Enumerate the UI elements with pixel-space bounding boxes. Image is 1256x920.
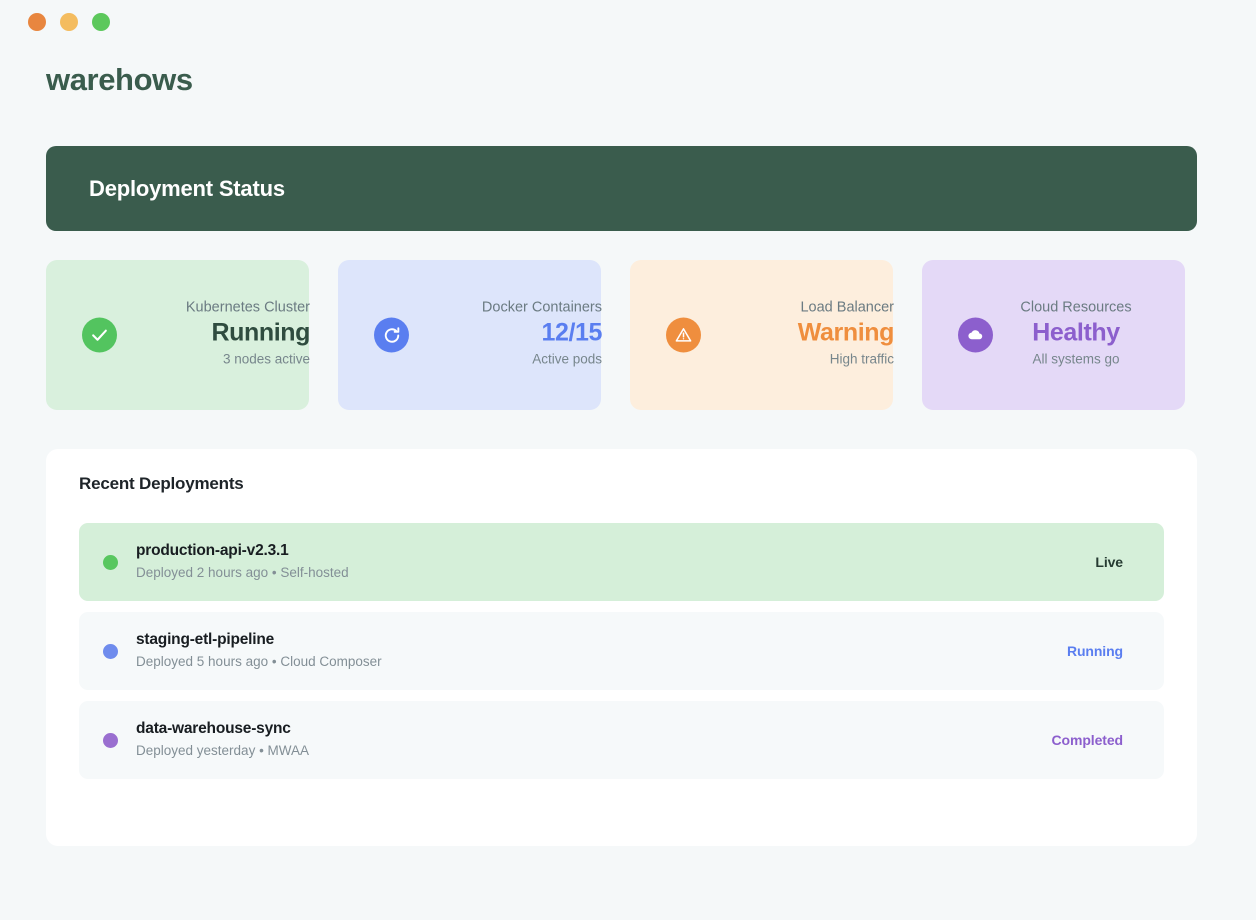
status-card-label: Docker Containers <box>412 298 602 319</box>
deployment-list: production-api-v2.3.1 Deployed 2 hours a… <box>79 523 1164 790</box>
status-card-load-balancer[interactable]: Load Balancer Warning High traffic <box>630 260 893 410</box>
deployment-row-info: staging-etl-pipeline Deployed 5 hours ag… <box>136 629 1067 673</box>
status-card-sub: 3 nodes active <box>120 347 310 373</box>
status-card-value: Running <box>120 319 310 347</box>
status-card-value: 12/15 <box>412 319 602 347</box>
maximize-window-button[interactable] <box>92 13 110 31</box>
warning-triangle-icon <box>666 318 701 353</box>
deployment-name: data-warehouse-sync <box>136 718 1052 740</box>
status-card-text: Kubernetes Cluster Running 3 nodes activ… <box>120 298 310 373</box>
status-dot-icon <box>103 644 118 659</box>
status-card-text: Docker Containers 12/15 Active pods <box>412 298 602 373</box>
deployment-row-info: data-warehouse-sync Deployed yesterday •… <box>136 718 1052 762</box>
app-window: warehows Deployment Status Kubernetes Cl… <box>0 0 1256 920</box>
status-card-docker-containers[interactable]: Docker Containers 12/15 Active pods <box>338 260 601 410</box>
status-card-label: Cloud Resources <box>981 298 1171 319</box>
status-badge: Running <box>1067 643 1123 659</box>
status-badge: Completed <box>1052 732 1123 748</box>
status-card-value: Warning <box>704 319 894 347</box>
status-dot-icon <box>103 555 118 570</box>
deployment-meta: Deployed 5 hours ago • Cloud Composer <box>136 651 1067 673</box>
status-card-cloud-resources[interactable]: Cloud Resources Healthy All systems go <box>922 260 1185 410</box>
recent-deployments-title: Recent Deployments <box>79 474 244 494</box>
status-card-sub: All systems go <box>981 347 1171 373</box>
deployment-row-info: production-api-v2.3.1 Deployed 2 hours a… <box>136 540 1095 584</box>
deployment-status-banner: Deployment Status <box>46 146 1197 231</box>
deployment-meta: Deployed yesterday • MWAA <box>136 740 1052 762</box>
deployment-row-staging-etl-pipeline[interactable]: staging-etl-pipeline Deployed 5 hours ag… <box>79 612 1164 690</box>
page-title: warehows <box>46 62 193 98</box>
window-controls <box>28 13 110 31</box>
recent-deployments-panel: Recent Deployments production-api-v2.3.1… <box>46 449 1197 846</box>
close-window-button[interactable] <box>28 13 46 31</box>
banner-title: Deployment Status <box>89 176 285 202</box>
deployment-row-production-api[interactable]: production-api-v2.3.1 Deployed 2 hours a… <box>79 523 1164 601</box>
deployment-name: staging-etl-pipeline <box>136 629 1067 651</box>
status-card-label: Load Balancer <box>704 298 894 319</box>
status-card-text: Cloud Resources Healthy All systems go <box>981 298 1171 373</box>
minimize-window-button[interactable] <box>60 13 78 31</box>
status-card-text: Load Balancer Warning High traffic <box>704 298 894 373</box>
deployment-row-data-warehouse-sync[interactable]: data-warehouse-sync Deployed yesterday •… <box>79 701 1164 779</box>
status-card-label: Kubernetes Cluster <box>120 298 310 319</box>
status-card-grid: Kubernetes Cluster Running 3 nodes activ… <box>46 260 1197 410</box>
status-card-sub: High traffic <box>704 347 894 373</box>
status-card-sub: Active pods <box>412 347 602 373</box>
deployment-name: production-api-v2.3.1 <box>136 540 1095 562</box>
status-card-kubernetes-cluster[interactable]: Kubernetes Cluster Running 3 nodes activ… <box>46 260 309 410</box>
status-dot-icon <box>103 733 118 748</box>
refresh-icon <box>374 318 409 353</box>
status-card-value: Healthy <box>981 319 1171 347</box>
status-badge: Live <box>1095 554 1123 570</box>
check-circle-icon <box>82 318 117 353</box>
deployment-meta: Deployed 2 hours ago • Self-hosted <box>136 562 1095 584</box>
